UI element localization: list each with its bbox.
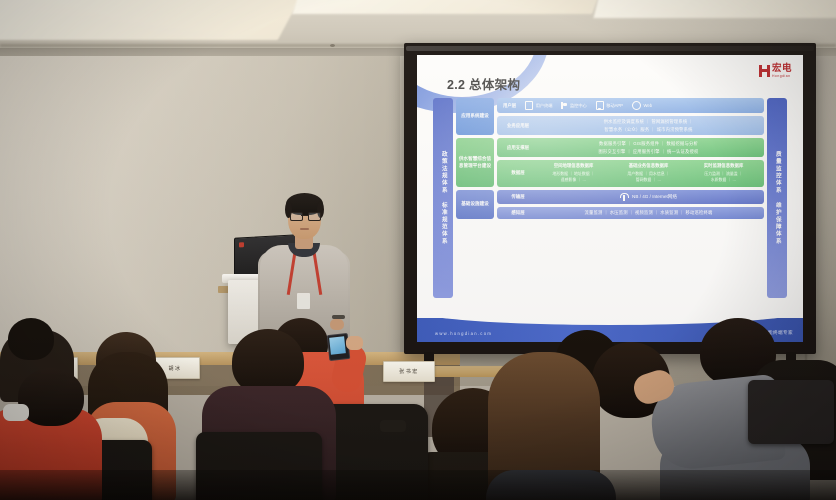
- slide-footer-url: www.hongdian.com: [435, 331, 492, 336]
- ceiling-light-panel: [292, 0, 608, 14]
- left-bar-label-2: 标准规范体系: [440, 202, 446, 245]
- user-item-label: Web: [643, 103, 652, 108]
- ceiling-smoke-detector: [330, 44, 335, 47]
- tier-application: 应用系统建设 用户层 用户终端 监控中心: [456, 98, 764, 135]
- right-assurance-bar: 质量监控体系 维护保障体系: [767, 98, 787, 298]
- logo-text-cn: 宏电: [772, 64, 792, 74]
- user-item-tablet: 用户终端: [525, 101, 552, 110]
- phone-icon: [596, 101, 604, 110]
- column-line: 地形数据 ｜ 地址数据 ｜: [552, 171, 594, 176]
- presenter-glasses-lens-right: [308, 212, 321, 221]
- column-line: 遥感影像 ｜ …: [561, 177, 587, 182]
- slide-title: 2.2 总体架构: [447, 74, 520, 93]
- presenter-glasses-bridge: [301, 215, 308, 216]
- screen-frame-foot: [424, 352, 434, 361]
- tier-label-application: 应用系统建设: [456, 98, 494, 135]
- row-application-support: 应用支撑层 数据服务引擎 ｜ GIS服务组件 ｜ 数据挖掘与分析 图形交互引擎 …: [497, 138, 764, 157]
- tablet-icon: [525, 101, 533, 110]
- ceiling-light-panel: [594, 0, 836, 18]
- presentation-slide: 2.2 总体架构 宏电 Hongdian 政策法规体系 标准规范体系 应用系统建…: [417, 55, 803, 342]
- user-item-label: 移动APP: [606, 103, 623, 109]
- laptop-logo-icon: [239, 242, 244, 247]
- tier-label-infrastructure: 基础设施建设: [456, 190, 494, 219]
- tier-infrastructure: 基础设施建设 传输层 NB / 4G / Internet网络: [456, 190, 764, 219]
- row-user-layer: 用户层 用户终端 监控中心 移动APP: [497, 98, 764, 113]
- column-line: 水质数据 ｜ …: [711, 177, 737, 182]
- row-business-application: 业务应用层 供水监控及调度系统 ｜ 管网漏损管理系统 ｜ 智慧水务（公众）服务 …: [497, 116, 764, 135]
- row-line: 数据服务引擎 ｜ GIS服务组件 ｜ 数据挖掘与分析: [599, 141, 698, 147]
- row-transport-layer: 传输层 NB / 4G / Internet网络: [497, 190, 764, 204]
- column-line: 压力监测 ｜ 流量监 ｜: [704, 171, 742, 176]
- row-key-user: 用户层: [503, 103, 516, 109]
- audience-hand: [346, 336, 363, 350]
- audience-head: [8, 318, 54, 360]
- user-item-phone: 移动APP: [596, 101, 623, 110]
- row-key-transport: 传输层: [502, 194, 534, 200]
- tier-label-platform: 供水智慧综合信息管理平台建设: [456, 138, 494, 187]
- chair-armrest: [380, 420, 406, 432]
- column-line: 管网数据 ｜ …: [636, 177, 662, 182]
- user-item-label: 监控中心: [570, 103, 587, 109]
- logo-text-en: Hongdian: [772, 75, 792, 78]
- phone-screen: [329, 336, 346, 354]
- left-bar-label-1: 政策法规体系: [440, 151, 446, 194]
- face-mask: [3, 404, 29, 421]
- column-line: 用户数据 ｜ 用水信息 ｜: [627, 171, 669, 176]
- row-line: 智慧水务（公众）服务 ｜ 城市内涝预警系统: [604, 127, 692, 133]
- data-column-spatial: 空间地理信息数据库 地形数据 ｜ 地址数据 ｜ 遥感影像 ｜ …: [538, 163, 609, 182]
- data-column-business: 基础业务信息数据库 用户数据 ｜ 用水信息 ｜ 管网数据 ｜ …: [613, 163, 684, 182]
- user-item-label: 用户终端: [536, 103, 553, 109]
- logo-mark-icon: [759, 65, 770, 77]
- row-line: 供水监控及调度系统 ｜ 管网漏损管理系统 ｜: [604, 119, 694, 125]
- architecture-diagram: 政策法规体系 标准规范体系 应用系统建设 用户层 用户终端: [433, 98, 787, 298]
- row-key-perception: 感知层: [502, 210, 534, 216]
- conference-room-photo: 2.2 总体架构 宏电 Hongdian 政策法规体系 标准规范体系 应用系统建…: [0, 0, 836, 500]
- name-placard: 张书宏: [383, 361, 435, 382]
- column-head: 空间地理信息数据库: [554, 163, 594, 169]
- data-column-realtime: 实时监测信息数据库 压力监测 ｜ 流量监 ｜ 水质数据 ｜ …: [688, 163, 759, 182]
- network-label: NB / 4G / Internet网络: [632, 194, 677, 200]
- column-head: 实时监测信息数据库: [704, 163, 744, 169]
- row-line: 图形交互引擎 ｜ 应用服务引擎 ｜ 统一认证及授权: [598, 149, 698, 155]
- right-bar-label-1: 质量监控体系: [774, 151, 780, 194]
- antenna-icon: [620, 193, 628, 201]
- row-key-data: 数据层: [502, 170, 534, 176]
- presenter-mouth: [300, 228, 309, 230]
- row-key-business: 业务应用层: [502, 123, 534, 129]
- chair: [196, 432, 322, 500]
- column-head: 基础业务信息数据库: [629, 163, 669, 169]
- ceiling-light-panel: [0, 0, 302, 40]
- presenter-hand: [330, 319, 344, 330]
- hongdian-logo: 宏电 Hongdian: [759, 64, 792, 78]
- audience-torso: [486, 470, 616, 500]
- globe-icon: [632, 101, 641, 110]
- row-line: 流量监测 ｜ 水压监测 ｜ 视频监测 ｜ 水质监测 ｜ 移动巡检终端: [584, 210, 712, 216]
- presenter-glasses-lens-left: [290, 212, 303, 221]
- row-perception-layer: 感知层 流量监测 ｜ 水压监测 ｜ 视频监测 ｜ 水质监测 ｜ 移动巡检终端: [497, 207, 764, 219]
- user-item-web: Web: [632, 101, 652, 110]
- monitor-icon: [561, 102, 567, 109]
- row-key-support: 应用支撑层: [502, 145, 534, 151]
- row-data-layer: 数据层 空间地理信息数据库 地形数据 ｜ 地址数据 ｜ 遥感影像 ｜ …: [497, 160, 764, 187]
- diagram-tiers: 应用系统建设 用户层 用户终端 监控中心: [456, 98, 764, 298]
- tier-platform: 供水智慧综合信息管理平台建设 应用支撑层 数据服务引擎 ｜ GIS服务组件 ｜ …: [456, 138, 764, 187]
- left-governance-bar: 政策法规体系 标准规范体系: [433, 98, 453, 298]
- chair: [748, 380, 834, 444]
- user-item-monitor: 监控中心: [561, 102, 586, 109]
- right-bar-label-2: 维护保障体系: [774, 202, 780, 245]
- presenter-badge: [297, 293, 310, 309]
